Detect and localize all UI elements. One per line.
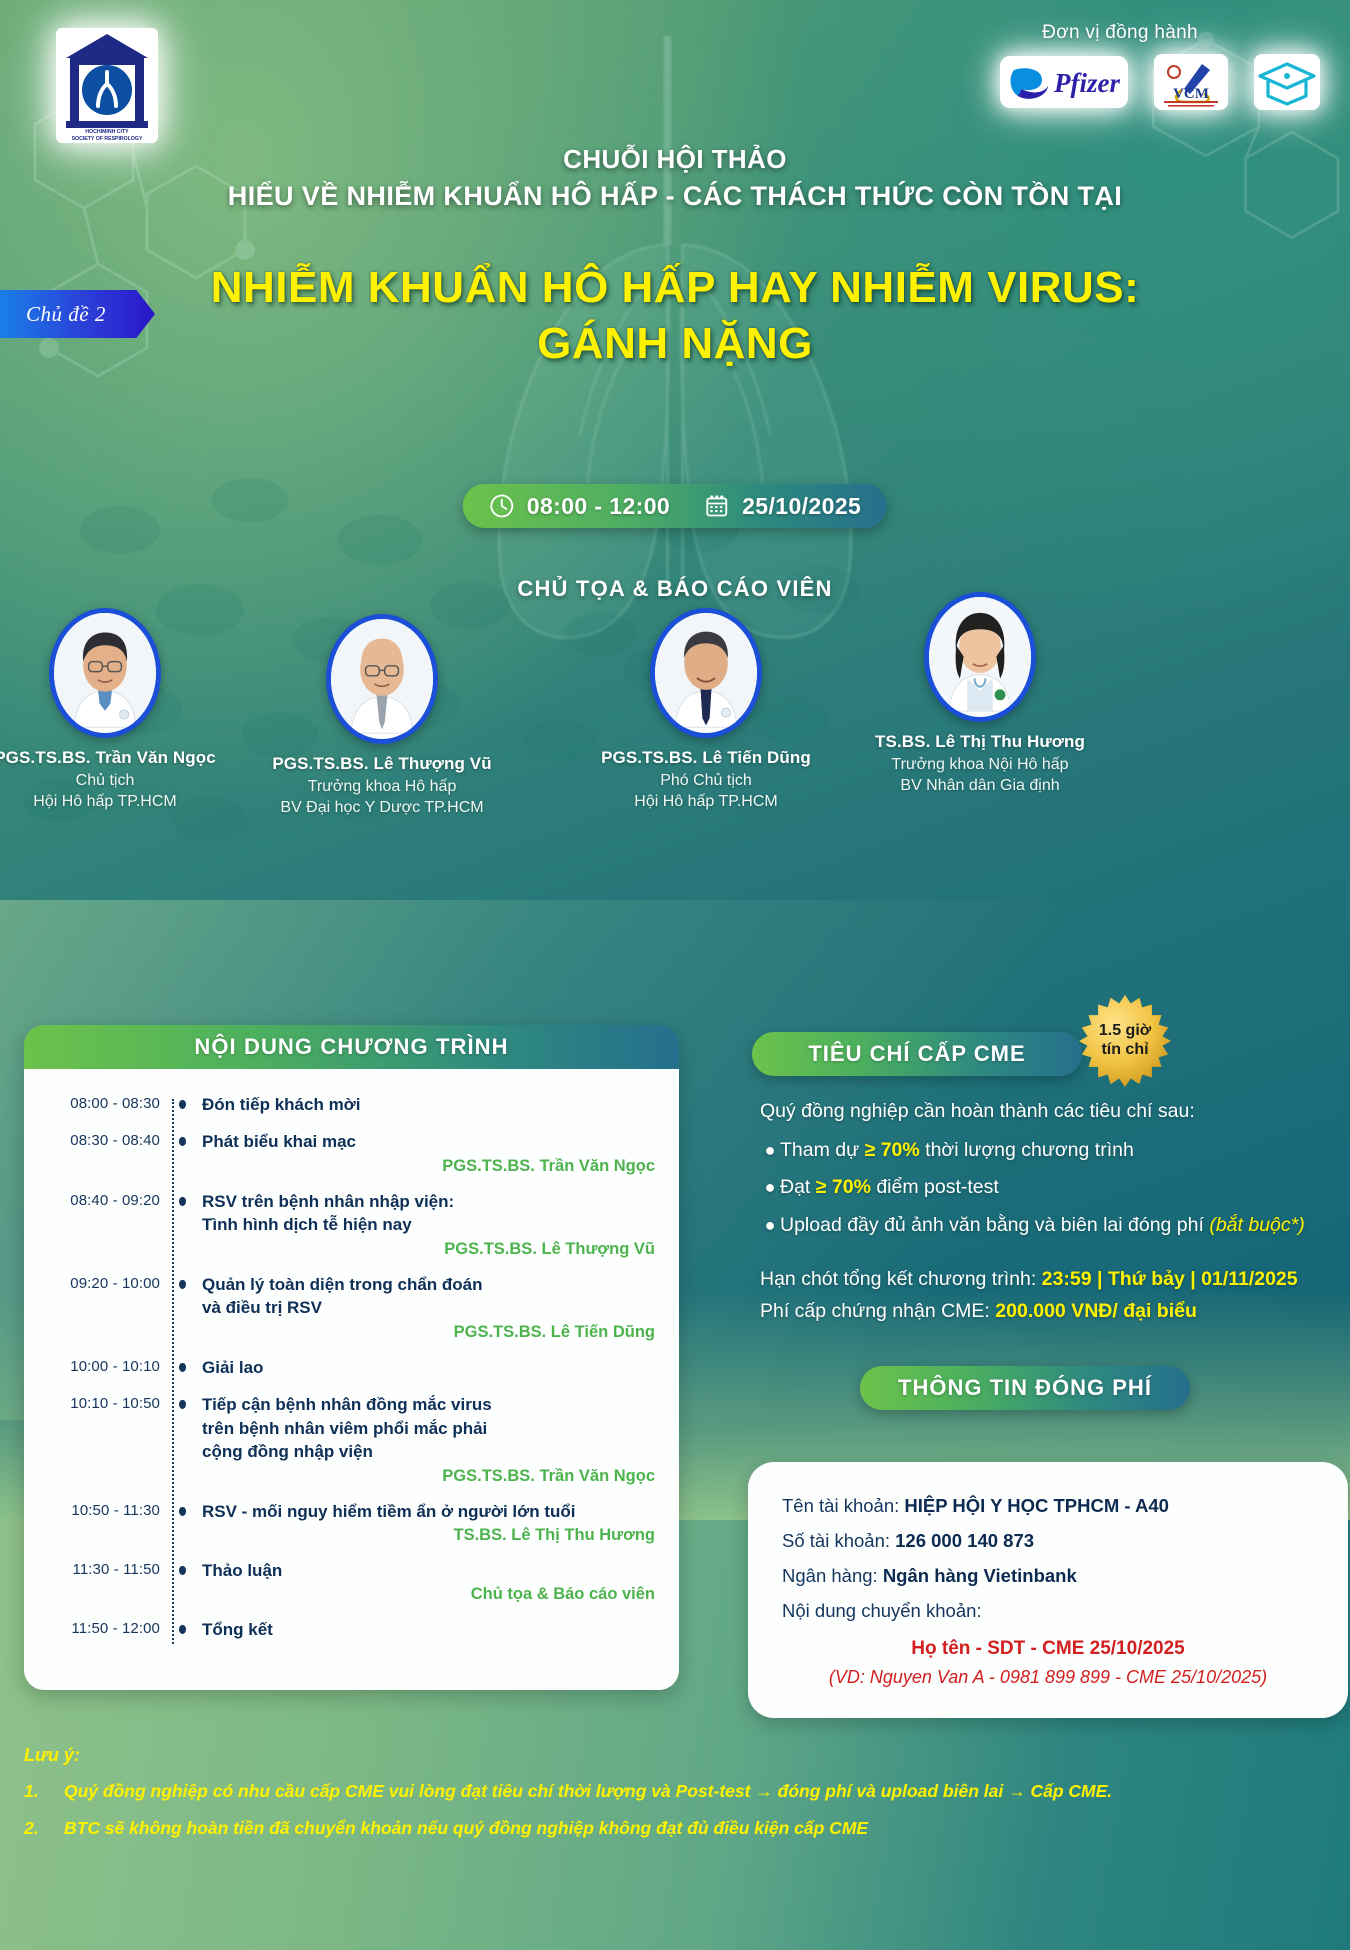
- cme-deadline-label: Hạn chót tổng kết chương trình:: [760, 1268, 1042, 1290]
- vcm-wordmark: VCM: [1173, 86, 1209, 102]
- sponsors-label: Đơn vị đồng hành: [920, 22, 1320, 44]
- timeline-dot-cell: [170, 1093, 194, 1109]
- program-row-speaker: PGS.TS.BS. Trần Văn Ngọc: [202, 1157, 657, 1176]
- program-row-time: 08:00 - 08:30: [34, 1093, 170, 1112]
- program-row-title: Thảo luận: [202, 1559, 657, 1582]
- program-row: 10:00 - 10:10Giải lao: [34, 1356, 661, 1379]
- program-body: 08:00 - 08:30Đón tiếp khách mời08:30 - 0…: [24, 1069, 679, 1690]
- program-row-title: RSV - mối nguy hiểm tiềm ẩn ở người lớn …: [202, 1500, 657, 1523]
- timeline-dot-cell: [170, 1190, 194, 1206]
- program-row-title-line: Đón tiếp khách mời: [202, 1093, 657, 1116]
- program-row-body: Tổng kết: [194, 1618, 661, 1641]
- timeline-dot: [179, 1100, 186, 1109]
- cme-credit-line2: tín chỉ: [1101, 1041, 1148, 1060]
- payment-info-pill: THÔNG TIN ĐÓNG PHÍ: [860, 1366, 1190, 1410]
- avatar: [650, 608, 762, 738]
- avatar: [924, 592, 1036, 722]
- program-row-speaker: Chủ tọa & Báo cáo viên: [202, 1585, 657, 1604]
- program-row-title: Phát biểu khai mạc: [202, 1130, 657, 1153]
- speaker-card: PGS.TS.BS. Lê Tiến Dũng Phó Chủ tịch Hội…: [556, 608, 856, 812]
- payment-account-no-value: 126 000 140 873: [895, 1530, 1034, 1551]
- cme-fee-value: 200.000 VNĐ/ đại biểu: [995, 1300, 1197, 1322]
- payment-bank-value: Ngân hàng Vietinbank: [883, 1565, 1077, 1586]
- program-row: 10:10 - 10:50Tiếp cận bệnh nhân đồng mắc…: [34, 1393, 661, 1485]
- program-row-body: RSV - mối nguy hiểm tiềm ẩn ở người lớn …: [194, 1500, 661, 1545]
- society-logo: HOCHIMINH CITY SOCIETY OF RESPIROLOGY: [52, 22, 162, 147]
- program-heading: NỘI DUNG CHƯƠNG TRÌNH: [194, 1034, 508, 1060]
- speaker-card: PGS.TS.BS. Trần Văn Ngọc Chủ tịch Hội Hô…: [0, 608, 255, 812]
- program-row-body: Tiếp cận bệnh nhân đồng mắc virustrên bệ…: [194, 1393, 661, 1485]
- program-row-body: Phát biểu khai mạcPGS.TS.BS. Trần Văn Ng…: [194, 1130, 661, 1175]
- speaker-name: PGS.TS.BS. Lê Tiến Dũng: [556, 748, 856, 768]
- sponsors-block: Đơn vị đồng hành Pfizer VCM: [920, 22, 1320, 110]
- logo-line1: HOCHIMINH CITY: [85, 129, 129, 135]
- program-row-title: Tổng kết: [202, 1618, 657, 1641]
- footer-notes: Lưu ý: 1.Quý đồng nghiệp có nhu cầu cấp …: [24, 1745, 1334, 1854]
- cme-deadline-row: Hạn chót tổng kết chương trình: 23:59 | …: [760, 1264, 1330, 1296]
- speaker-role-2: Hội Hô hấp TP.HCM: [556, 791, 856, 812]
- program-row-body: Quản lý toàn diện trong chẩn đoánvà điều…: [194, 1273, 661, 1342]
- program-row-title: Tiếp cận bệnh nhân đồng mắc virustrên bệ…: [202, 1393, 657, 1463]
- avatar: [326, 614, 438, 744]
- speaker-role-2: BV Đại học Y Dược TP.HCM: [232, 797, 532, 818]
- program-row-title-line: Quản lý toàn diện trong chẩn đoán: [202, 1273, 657, 1296]
- cme-criteria-item: ●Upload đầy đủ ảnh văn bằng và biên lai …: [760, 1212, 1330, 1238]
- payment-account-no-label: Số tài khoản:: [782, 1530, 895, 1551]
- program-row-title-line: RSV trên bệnh nhân nhập viện:: [202, 1190, 657, 1213]
- payment-card: Tên tài khoản: HIỆP HỘI Y HỌC TPHCM - A4…: [748, 1462, 1348, 1718]
- note-number: 2.: [24, 1817, 64, 1840]
- payment-account-name-row: Tên tài khoản: HIỆP HỘI Y HỌC TPHCM - A4…: [782, 1488, 1314, 1523]
- timeline-dot: [179, 1625, 186, 1634]
- program-row-speaker: PGS.TS.BS. Trần Văn Ngọc: [202, 1467, 657, 1486]
- program-row-body: Thảo luậnChủ tọa & Báo cáo viên: [194, 1559, 661, 1604]
- speaker-role-1: Chủ tịch: [0, 770, 255, 791]
- series-title-line2: HIỂU VỀ NHIỄM KHUẨN HÔ HẤP - CÁC THÁCH T…: [0, 178, 1350, 215]
- payment-content-value: Họ tên - SDT - CME 25/10/2025: [782, 1638, 1314, 1660]
- sponsor-logos-row: Pfizer VCM: [920, 54, 1320, 110]
- program-row-title-line: và điều trị RSV: [202, 1296, 657, 1319]
- payment-content-label: Nội dung chuyển khoản:: [782, 1593, 1314, 1628]
- cme-deadline-value: 23:59 | Thứ bảy | 01/11/2025: [1042, 1268, 1298, 1290]
- program-row: 11:30 - 11:50Thảo luậnChủ tọa & Báo cáo …: [34, 1559, 661, 1604]
- note-text: Quý đồng nghiệp có nhu cầu cấp CME vui l…: [64, 1780, 1112, 1803]
- note-number: 1.: [24, 1780, 64, 1803]
- speaker-role-1: Phó Chủ tịch: [556, 770, 856, 791]
- cme-criteria-label: TIÊU CHÍ CẤP CME: [808, 1041, 1025, 1067]
- timeline-dot-cell: [170, 1559, 194, 1575]
- bullet-icon: ●: [760, 1174, 780, 1199]
- bullet-icon: ●: [760, 1137, 780, 1162]
- timeline-dot: [179, 1363, 186, 1372]
- series-title-line1: CHUỖI HỘI THẢO: [0, 142, 1350, 178]
- speakers-heading: CHỦ TỌA & BÁO CÁO VIÊN: [0, 576, 1350, 602]
- speaker-card: PGS.TS.BS. Lê Thượng Vũ Trưởng khoa Hô h…: [232, 614, 532, 818]
- program-row-speaker: TS.BS. Lê Thị Thu Hương: [202, 1526, 657, 1545]
- cme-criteria-item: ●Đạt ≥ 70% điểm post-test: [760, 1174, 1330, 1200]
- bullet-icon: ●: [760, 1212, 780, 1237]
- program-row-time: 09:20 - 10:00: [34, 1273, 170, 1292]
- program-row-speaker: PGS.TS.BS. Lê Tiến Dũng: [202, 1323, 657, 1342]
- timeline-dot-cell: [170, 1130, 194, 1146]
- timeline-dot-cell: [170, 1356, 194, 1372]
- speaker-role-1: Trưởng khoa Nội Hô hấp: [830, 754, 1130, 775]
- program-row-title-line: Tình hình dịch tễ hiện nay: [202, 1213, 657, 1236]
- calendar-icon: [704, 493, 730, 519]
- speaker-role-2: BV Nhân dân Gia định: [830, 775, 1130, 796]
- program-row-speaker: PGS.TS.BS. Lê Thượng Vũ: [202, 1240, 657, 1259]
- cme-credit-label: 1.5 giờ tín chỉ: [1077, 993, 1173, 1089]
- event-date: 25/10/2025: [742, 493, 861, 520]
- program-row-time: 10:10 - 10:50: [34, 1393, 170, 1412]
- avatar: [49, 608, 161, 738]
- payment-account-no-row: Số tài khoản: 126 000 140 873: [782, 1523, 1314, 1558]
- timeline-dot: [179, 1280, 186, 1289]
- program-header: NỘI DUNG CHƯƠNG TRÌNH: [24, 1025, 679, 1069]
- program-row-title-line: Tổng kết: [202, 1618, 657, 1641]
- timeline-dot: [179, 1507, 186, 1516]
- program-row-time: 10:50 - 11:30: [34, 1500, 170, 1519]
- program-row-title-line: Tiếp cận bệnh nhân đồng mắc virus: [202, 1393, 657, 1416]
- note-item: 2.BTC sẽ không hoàn tiền đã chuyển khoản…: [24, 1817, 1334, 1840]
- payment-account-name-value: HIỆP HỘI Y HỌC TPHCM - A40: [904, 1495, 1169, 1516]
- cme-deadline-block: Hạn chót tổng kết chương trình: 23:59 | …: [760, 1264, 1330, 1327]
- speaker-name: PGS.TS.BS. Trần Văn Ngọc: [0, 748, 255, 768]
- timeline-dot-cell: [170, 1618, 194, 1634]
- timeline-dot: [179, 1137, 186, 1146]
- cme-intro: Quý đồng nghiệp cần hoàn thành các tiêu …: [760, 1100, 1330, 1123]
- cme-credit-line1: 1.5 giờ: [1099, 1022, 1151, 1041]
- program-row-time: 11:30 - 11:50: [34, 1559, 170, 1578]
- cme-credit-starburst: 1.5 giờ tín chỉ: [1077, 993, 1173, 1089]
- program-panel: NỘI DUNG CHƯƠNG TRÌNH 08:00 - 08:30Đón t…: [24, 1025, 679, 1690]
- cme-fee-label: Phí cấp chứng nhận CME:: [760, 1300, 995, 1322]
- program-row-time: 11:50 - 12:00: [34, 1618, 170, 1637]
- series-title: CHUỖI HỘI THẢO HIỂU VỀ NHIỄM KHUẨN HÔ HẤ…: [0, 142, 1350, 215]
- clock-icon: [489, 493, 515, 519]
- program-row: 08:40 - 09:20RSV trên bệnh nhân nhập việ…: [34, 1190, 661, 1259]
- note-text: BTC sẽ không hoàn tiền đã chuyển khoản n…: [64, 1817, 868, 1840]
- event-time: 08:00 - 12:00: [527, 493, 670, 520]
- cme-criteria-text-item: Đạt ≥ 70% điểm post-test: [780, 1174, 999, 1200]
- program-row-title-line: cộng đồng nhập viện: [202, 1440, 657, 1463]
- program-row-title-line: Phát biểu khai mạc: [202, 1130, 657, 1153]
- program-row: 10:50 - 11:30RSV - mối nguy hiểm tiềm ẩn…: [34, 1500, 661, 1545]
- timeline-dot: [179, 1197, 186, 1206]
- program-row: 09:20 - 10:00Quản lý toàn diện trong chẩ…: [34, 1273, 661, 1342]
- vcm-logo: VCM: [1154, 54, 1228, 110]
- note-item: 1.Quý đồng nghiệp có nhu cầu cấp CME vui…: [24, 1780, 1334, 1803]
- program-row-body: Giải lao: [194, 1356, 661, 1379]
- program-row-title-line: Giải lao: [202, 1356, 657, 1379]
- program-row-time: 08:40 - 09:20: [34, 1190, 170, 1209]
- timeline-dot-cell: [170, 1273, 194, 1289]
- cme-fee-row: Phí cấp chứng nhận CME: 200.000 VNĐ/ đại…: [760, 1296, 1330, 1328]
- program-row: 08:00 - 08:30Đón tiếp khách mời: [34, 1093, 661, 1116]
- payment-bank-row: Ngân hàng: Ngân hàng Vietinbank: [782, 1558, 1314, 1593]
- cme-criteria-pill: TIÊU CHÍ CẤP CME: [752, 1032, 1082, 1076]
- timeline-dot: [179, 1566, 186, 1575]
- program-row-title: RSV trên bệnh nhân nhập viện:Tình hình d…: [202, 1190, 657, 1237]
- timeline-dot-cell: [170, 1500, 194, 1516]
- payment-account-name-label: Tên tài khoản:: [782, 1495, 904, 1516]
- program-row-title-line: trên bệnh nhân viêm phổi mắc phải: [202, 1417, 657, 1440]
- notes-heading: Lưu ý:: [24, 1745, 1334, 1766]
- program-row-title: Đón tiếp khách mời: [202, 1093, 657, 1116]
- cme-criteria-text-item: Upload đầy đủ ảnh văn bằng và biên lai đ…: [780, 1212, 1305, 1238]
- speaker-name: PGS.TS.BS. Lê Thượng Vũ: [232, 754, 532, 774]
- program-row: 11:50 - 12:00Tổng kết: [34, 1618, 661, 1641]
- speaker-role-2: Hội Hô hấp TP.HCM: [0, 791, 255, 812]
- pfizer-logo: Pfizer: [1000, 56, 1128, 108]
- program-row-time: 08:30 - 08:40: [34, 1130, 170, 1149]
- program-row-title-line: RSV - mối nguy hiểm tiềm ẩn ở người lớn …: [202, 1500, 657, 1523]
- payment-bank-label: Ngân hàng:: [782, 1565, 883, 1586]
- datetime-badge: 08:00 - 12:00 25/10/2025: [463, 484, 887, 528]
- timeline-dot-cell: [170, 1393, 194, 1409]
- program-row-body: RSV trên bệnh nhân nhập viện:Tình hình d…: [194, 1190, 661, 1259]
- speaker-card: TS.BS. Lê Thị Thu Hương Trưởng khoa Nội …: [830, 592, 1130, 796]
- timeline-dot: [179, 1400, 186, 1409]
- program-row-time: 10:00 - 10:10: [34, 1356, 170, 1375]
- cme-criteria-text: Quý đồng nghiệp cần hoàn thành các tiêu …: [760, 1100, 1330, 1327]
- speaker-role-1: Trưởng khoa Hô hấp: [232, 776, 532, 797]
- cme-criteria-item: ●Tham dự ≥ 70% thời lượng chương trình: [760, 1137, 1330, 1163]
- program-row-body: Đón tiếp khách mời: [194, 1093, 661, 1116]
- program-row-title: Giải lao: [202, 1356, 657, 1379]
- payment-info-label: THÔNG TIN ĐÓNG PHÍ: [898, 1375, 1152, 1401]
- main-title-line2: GÁNH NẶNG: [90, 316, 1260, 372]
- payment-example: (VD: Nguyen Van A - 0981 899 899 - CME 2…: [782, 1667, 1314, 1688]
- speakers-grid: PGS.TS.BS. Trần Văn Ngọc Chủ tịch Hội Hô…: [0, 630, 1350, 910]
- pfizer-wordmark: Pfizer: [1053, 68, 1120, 98]
- main-title-line1: NHIỄM KHUẨN HÔ HẤP HAY NHIỄM VIRUS:: [90, 260, 1260, 316]
- speaker-name: TS.BS. Lê Thị Thu Hương: [830, 732, 1130, 752]
- page-title: NHIỄM KHUẨN HÔ HẤP HAY NHIỄM VIRUS: GÁNH…: [90, 260, 1260, 373]
- program-row: 08:30 - 08:40Phát biểu khai mạcPGS.TS.BS…: [34, 1130, 661, 1175]
- graduation-cap-logo: [1254, 54, 1320, 110]
- program-row-title: Quản lý toàn diện trong chẩn đoánvà điều…: [202, 1273, 657, 1320]
- cme-criteria-text-item: Tham dự ≥ 70% thời lượng chương trình: [780, 1137, 1134, 1163]
- program-row-title-line: Thảo luận: [202, 1559, 657, 1582]
